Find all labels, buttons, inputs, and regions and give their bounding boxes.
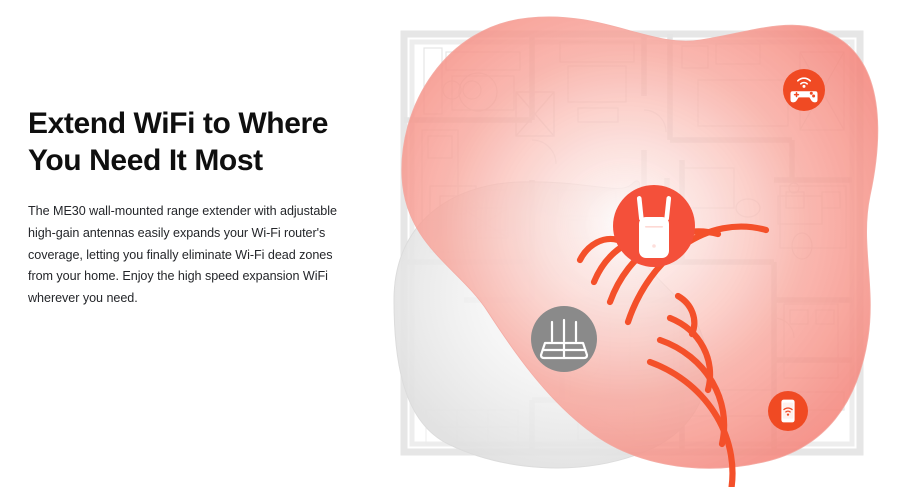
- smartphone-badge[interactable]: [768, 391, 808, 431]
- headline-line-2: You Need It Most: [28, 143, 368, 180]
- page-title: Extend WiFi to Where You Need It Most: [28, 106, 368, 179]
- game-controller-badge[interactable]: [783, 69, 825, 111]
- copy-block: Extend WiFi to Where You Need It Most Th…: [28, 106, 368, 309]
- body-paragraph: The ME30 wall-mounted range extender wit…: [28, 201, 353, 309]
- coverage-illustration: [382, 0, 900, 487]
- range-extender-badge[interactable]: [613, 185, 695, 267]
- router-badge[interactable]: [531, 306, 597, 372]
- smartphone-wifi-icon: [781, 400, 794, 423]
- headline-line-1: Extend WiFi to Where: [28, 107, 328, 140]
- promo-banner: Extend WiFi to Where You Need It Most Th…: [0, 0, 900, 487]
